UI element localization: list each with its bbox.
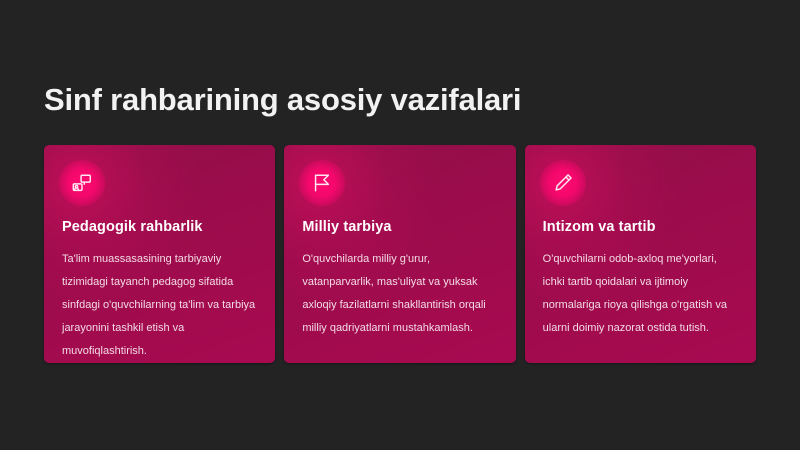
card-content: Milliy tarbiya O'quvchilarda milliy g'ur… (284, 145, 515, 363)
flag-icon (311, 172, 333, 194)
page-title: Sinf rahbarining asosiy vazifalari (44, 82, 521, 118)
slide-canvas: Sinf rahbarining asosiy vazifalari (0, 0, 800, 450)
card-body-text: Ta'lim muassasasining tarbiyaviy tizimid… (62, 248, 257, 363)
card-heading: Milliy tarbiya (302, 219, 497, 235)
card-body-text: O'quvchilarda milliy g'urur, vatanparvar… (302, 248, 497, 340)
icon-badge (62, 163, 102, 203)
card-body-text: O'quvchilarni odob-axloq me'yorlari, ich… (543, 248, 738, 340)
card-pedagogik-rahbarlik[interactable]: Pedagogik rahbarlik Ta'lim muassasasinin… (44, 145, 275, 363)
card-content: Pedagogik rahbarlik Ta'lim muassasasinin… (44, 145, 275, 363)
presentation-speech-icon (71, 172, 93, 194)
card-heading: Intizom va tartib (543, 219, 738, 235)
icon-badge (302, 163, 342, 203)
card-heading: Pedagogik rahbarlik (62, 219, 257, 235)
cards-row: Pedagogik rahbarlik Ta'lim muassasasinin… (44, 145, 756, 363)
pen-icon (552, 172, 574, 194)
card-intizom-va-tartib[interactable]: Intizom va tartib O'quvchilarni odob-axl… (525, 145, 756, 363)
card-content: Intizom va tartib O'quvchilarni odob-axl… (525, 145, 756, 363)
icon-badge (543, 163, 583, 203)
card-milliy-tarbiya[interactable]: Milliy tarbiya O'quvchilarda milliy g'ur… (284, 145, 515, 363)
